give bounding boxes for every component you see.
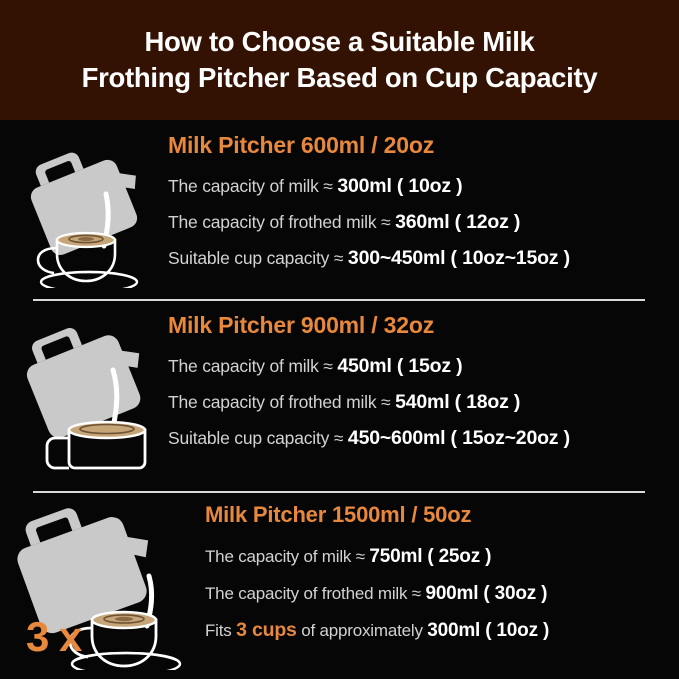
spec-line: The capacity of milk ≈ 450ml ( 15oz ) (168, 348, 679, 384)
text-column: Milk Pitcher 900ml / 32oz The capacity o… (168, 308, 679, 456)
pitcher-section-1500ml: Milk Pitcher 1500ml / 50oz The capacity … (0, 498, 679, 670)
spec-line: The capacity of frothed milk ≈ 900ml ( 3… (205, 575, 679, 612)
spec-label-suffix: of approximately (297, 621, 428, 640)
header-title-line-1: How to Choose a Suitable Milk (144, 24, 534, 60)
spec-label: The capacity of frothed milk ≈ (168, 392, 395, 412)
spec-line: Suitable cup capacity ≈ 300~450ml ( 10oz… (168, 240, 679, 276)
spec-value: 450~600ml ( 15oz~20oz ) (348, 427, 570, 449)
spec-value: 750ml ( 25oz ) (369, 546, 491, 567)
pitcher-title: Milk Pitcher 600ml / 20oz (168, 130, 679, 160)
spec-highlight-cups: 3 cups (236, 619, 297, 641)
spec-line: The capacity of frothed milk ≈ 360ml ( 1… (168, 204, 679, 240)
pitcher-title: Milk Pitcher 1500ml / 50oz (205, 500, 679, 530)
section-divider (33, 299, 645, 301)
spec-value: 900ml ( 30oz ) (425, 583, 547, 604)
spec-line: The capacity of milk ≈ 300ml ( 10oz ) (168, 168, 679, 204)
spec-value: 300ml ( 10oz ) (427, 620, 549, 641)
pitcher-title: Milk Pitcher 900ml / 32oz (168, 310, 679, 340)
spec-label-prefix: Fits (205, 621, 236, 640)
spec-value: 300ml ( 10oz ) (337, 175, 462, 197)
spec-line: The capacity of frothed milk ≈ 540ml ( 1… (168, 384, 679, 420)
pitcher-pouring-into-cup-and-saucer-icon (9, 128, 159, 288)
spec-label: The capacity of milk ≈ (168, 356, 337, 376)
spec-value: 450ml ( 15oz ) (337, 355, 462, 377)
multiplier-badge-3x: 3 x (26, 616, 81, 658)
text-column: Milk Pitcher 1500ml / 50oz The capacity … (205, 498, 679, 649)
spec-value: 540ml ( 18oz ) (395, 391, 520, 413)
pitcher-section-600ml: Milk Pitcher 600ml / 20oz The capacity o… (0, 128, 679, 288)
spec-line-cups: Fits 3 cups of approximately 300ml ( 10o… (205, 612, 679, 649)
pitcher-section-900ml: Milk Pitcher 900ml / 32oz The capacity o… (0, 308, 679, 470)
header-title-line-2: Frothing Pitcher Based on Cup Capacity (82, 60, 598, 96)
spec-label: The capacity of milk ≈ (168, 176, 337, 196)
spec-value: 300~450ml ( 10oz~15oz ) (348, 247, 570, 269)
text-column: Milk Pitcher 600ml / 20oz The capacity o… (168, 128, 679, 276)
section-divider (33, 491, 645, 493)
spec-label: The capacity of frothed milk ≈ (168, 212, 395, 232)
spec-label: The capacity of milk ≈ (205, 547, 369, 566)
spec-value: 360ml ( 12oz ) (395, 211, 520, 233)
icon-column (0, 128, 168, 288)
spec-label: Suitable cup capacity ≈ (168, 428, 348, 448)
infographic-page: How to Choose a Suitable Milk Frothing P… (0, 0, 679, 679)
spec-line: Suitable cup capacity ≈ 450~600ml ( 15oz… (168, 420, 679, 456)
spec-label: Suitable cup capacity ≈ (168, 248, 348, 268)
spec-line: The capacity of milk ≈ 750ml ( 25oz ) (205, 538, 679, 575)
header-banner: How to Choose a Suitable Milk Frothing P… (0, 0, 679, 120)
pitcher-pouring-into-mug-icon (9, 308, 159, 470)
icon-column (0, 308, 168, 470)
spec-label: The capacity of frothed milk ≈ (205, 584, 425, 603)
